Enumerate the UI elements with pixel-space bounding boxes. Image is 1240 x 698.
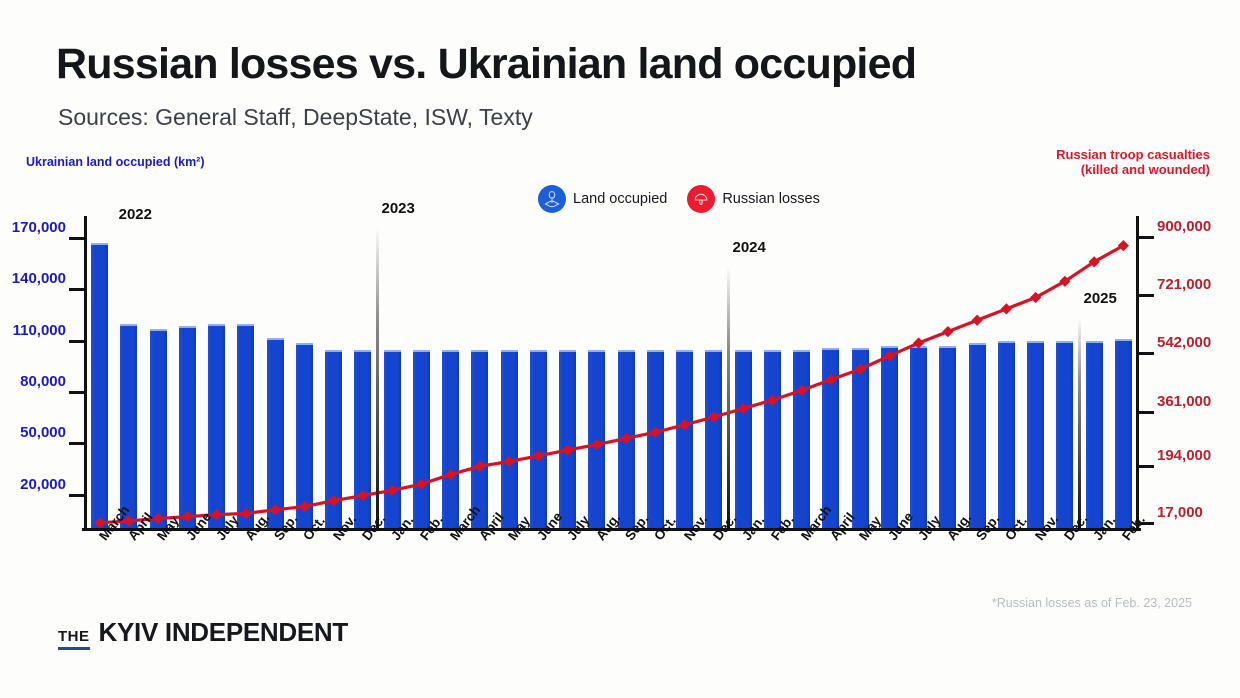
right-tick-label: 542,000 <box>1157 334 1211 351</box>
left-tick-label: 170,000 <box>12 219 66 236</box>
legend-label-land-occupied: Land occupied <box>573 191 667 207</box>
right-tick-label: 721,000 <box>1157 276 1211 293</box>
line-series-russian-losses <box>85 218 1138 528</box>
losses-marker <box>504 456 515 467</box>
left-tick-label: 80,000 <box>20 373 66 390</box>
x-axis-labels: MarchAprilMayJuneJulyAug.Sep.Oct.Nov.Dec… <box>85 534 1138 594</box>
land-occupied-icon <box>538 185 566 213</box>
right-tick <box>1138 411 1154 414</box>
legend-item-land-occupied[interactable]: Land occupied <box>538 185 667 213</box>
chart-plot-area: 20,00050,00080,000110,000140,000170,000 … <box>85 218 1138 528</box>
legend-label-russian-losses: Russian losses <box>722 191 820 207</box>
losses-marker <box>767 395 778 406</box>
year-label: 2025 <box>1084 290 1117 307</box>
right-tick-label: 17,000 <box>1157 504 1203 521</box>
year-label: 2022 <box>119 206 152 223</box>
chart-legend: Land occupied Russian losses <box>538 185 820 213</box>
losses-marker <box>942 326 953 337</box>
left-tick <box>69 494 85 497</box>
left-tick <box>69 340 85 343</box>
right-tick-label: 900,000 <box>1157 218 1211 235</box>
losses-marker <box>299 501 310 512</box>
left-tick <box>69 442 85 445</box>
losses-marker <box>240 508 251 519</box>
losses-marker <box>562 444 573 455</box>
losses-marker <box>445 469 456 480</box>
losses-marker <box>328 495 339 506</box>
losses-line <box>100 246 1124 523</box>
kyiv-independent-logo: THE KYIV INDEPENDENT <box>58 617 348 648</box>
losses-marker <box>679 419 690 430</box>
right-tick-label: 361,000 <box>1157 393 1211 410</box>
left-tick <box>69 391 85 394</box>
right-axis-caption-line1: Russian troop casualties <box>1056 147 1210 162</box>
losses-marker <box>708 411 719 422</box>
logo-name: KYIV INDEPENDENT <box>99 617 348 648</box>
year-divider-line <box>727 267 730 528</box>
page-title: Russian losses vs. Ukrainian land occupi… <box>56 40 916 89</box>
losses-marker <box>855 364 866 375</box>
losses-marker <box>416 479 427 490</box>
right-tick <box>1138 465 1154 468</box>
right-tick <box>1138 352 1154 355</box>
right-axis-caption-line2: (killed and wounded) <box>1056 162 1210 177</box>
losses-marker <box>182 511 193 522</box>
left-tick-label: 50,000 <box>20 424 66 441</box>
left-tick <box>69 288 85 291</box>
right-tick <box>1138 294 1154 297</box>
losses-marker <box>621 433 632 444</box>
year-divider-line <box>376 228 379 528</box>
legend-item-russian-losses[interactable]: Russian losses <box>687 185 820 213</box>
right-axis-caption: Russian troop casualties (killed and wou… <box>1056 147 1210 177</box>
year-label: 2024 <box>733 239 766 256</box>
left-tick-label: 140,000 <box>12 270 66 287</box>
page-subtitle: Sources: General Staff, DeepState, ISW, … <box>58 104 533 131</box>
losses-marker <box>270 504 281 515</box>
losses-marker <box>387 485 398 496</box>
left-tick <box>69 237 85 240</box>
losses-marker <box>650 427 661 438</box>
losses-marker <box>972 315 983 326</box>
left-axis-caption: Ukrainian land occupied (km²) <box>26 155 205 169</box>
right-tick-label: 194,000 <box>1157 447 1211 464</box>
losses-marker <box>796 385 807 396</box>
losses-marker <box>884 350 895 361</box>
left-tick-label: 20,000 <box>20 476 66 493</box>
losses-marker <box>1001 303 1012 314</box>
logo-the: THE <box>58 628 90 648</box>
left-tick-label: 110,000 <box>13 322 66 339</box>
losses-marker <box>357 490 368 501</box>
losses-marker <box>825 374 836 385</box>
losses-marker <box>591 439 602 450</box>
losses-marker <box>738 403 749 414</box>
losses-marker <box>913 337 924 348</box>
chart-page: Russian losses vs. Ukrainian land occupi… <box>0 0 1240 698</box>
helmet-icon <box>687 185 715 213</box>
year-divider-line <box>1078 318 1081 528</box>
footnote: *Russian losses as of Feb. 23, 2025 <box>992 596 1192 610</box>
losses-marker <box>533 450 544 461</box>
losses-marker <box>474 461 485 472</box>
year-label: 2023 <box>382 200 415 217</box>
right-tick <box>1138 236 1154 239</box>
